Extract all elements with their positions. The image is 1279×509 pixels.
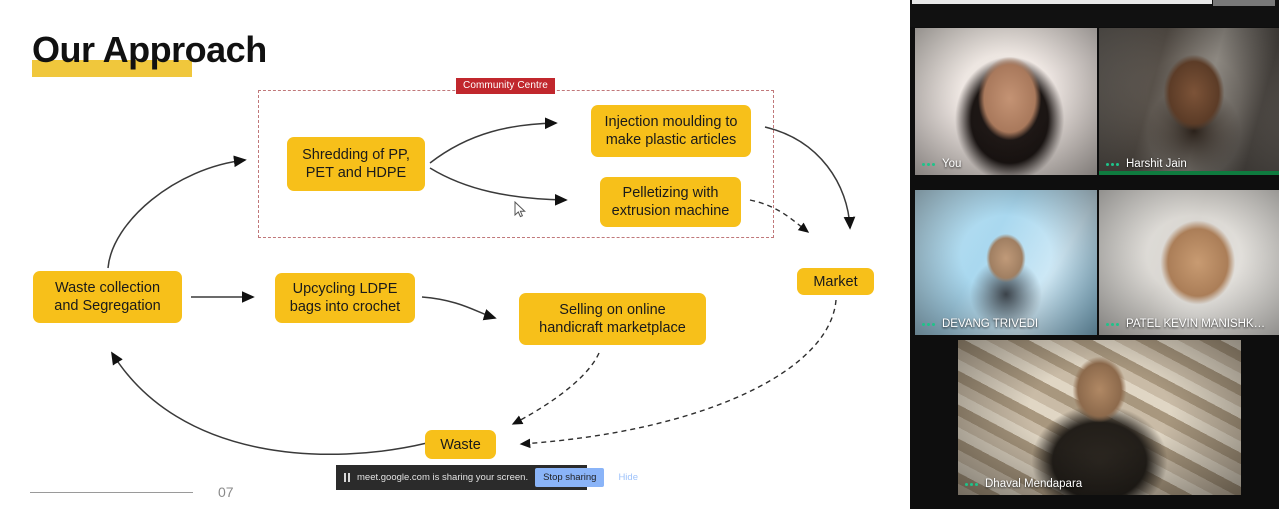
node-upcycling: Upcycling LDPE bags into crochet — [275, 273, 415, 323]
arrow-pelletizing-to-market-dashed — [750, 200, 808, 232]
arrow-shredding-to-injection — [430, 123, 556, 163]
tile-name-row: PATEL KEVIN MANISHK… — [1099, 313, 1279, 335]
video-tile-you[interactable]: You — [915, 28, 1097, 175]
screen-share-bar[interactable]: meet.google.com is sharing your screen. … — [336, 465, 587, 490]
video-tile-devang-trivedi[interactable]: DEVANG TRIVEDI — [915, 190, 1097, 335]
video-tile-harshit-jain[interactable]: Harshit Jain — [1099, 28, 1279, 175]
arrow-upcycling-to-selling — [422, 297, 495, 318]
participant-rail: You Harshit Jain DEVANG TRIVEDI — [910, 0, 1279, 509]
node-market: Market — [797, 268, 874, 295]
node-shredding: Shredding of PP, PET and HDPE — [287, 137, 425, 191]
more-options-icon[interactable] — [922, 163, 935, 166]
chrome-window-buttons — [1213, 0, 1275, 6]
node-waste: Waste — [425, 430, 496, 459]
screen-root: Our Approach Community Centre — [0, 0, 1279, 509]
more-options-icon[interactable] — [965, 483, 978, 486]
node-waste-collection: Waste collection and Segregation — [33, 271, 182, 323]
mouse-cursor-icon — [514, 201, 528, 219]
tile-name-row: Dhaval Mendapara — [958, 473, 1241, 495]
participant-name: Dhaval Mendapara — [985, 478, 1082, 490]
arrow-selling-to-waste-dashed — [513, 353, 599, 424]
node-selling-online: Selling on online handicraft marketplace — [519, 293, 706, 345]
browser-chrome-strip — [910, 0, 1279, 27]
more-options-icon[interactable] — [1106, 163, 1119, 166]
more-options-icon[interactable] — [922, 323, 935, 326]
hide-button[interactable]: Hide — [611, 468, 645, 487]
share-message: meet.google.com is sharing your screen. — [357, 472, 528, 483]
stop-sharing-button[interactable]: Stop sharing — [535, 468, 604, 487]
page-number: 07 — [218, 484, 234, 500]
video-tile-dhaval-mendapara[interactable]: Dhaval Mendapara — [958, 340, 1241, 495]
video-tile-patel-kevin[interactable]: PATEL KEVIN MANISHK… — [1099, 190, 1279, 335]
participant-name: Harshit Jain — [1126, 158, 1187, 170]
arrow-injection-to-market — [765, 127, 850, 228]
footer-rule — [30, 492, 193, 493]
tile-name-row: You — [915, 153, 1097, 175]
arrow-collection-to-shredding — [108, 160, 245, 268]
tile-name-row: DEVANG TRIVEDI — [915, 313, 1097, 335]
arrow-waste-to-collection — [112, 353, 427, 454]
participant-name: PATEL KEVIN MANISHK… — [1126, 318, 1265, 330]
chrome-address-strip — [912, 0, 1212, 4]
more-options-icon[interactable] — [1106, 323, 1119, 326]
arrow-shredding-to-pelletizing — [430, 168, 566, 200]
node-pelletizing: Pelletizing with extrusion machine — [600, 177, 741, 227]
pause-icon — [344, 473, 350, 482]
participant-name: You — [942, 158, 961, 170]
active-speaker-indicator — [1099, 171, 1279, 175]
participant-name: DEVANG TRIVEDI — [942, 318, 1038, 330]
video-vignette — [958, 340, 1241, 495]
node-injection-moulding: Injection moulding to make plastic artic… — [591, 105, 751, 157]
shared-slide: Our Approach Community Centre — [0, 0, 910, 509]
